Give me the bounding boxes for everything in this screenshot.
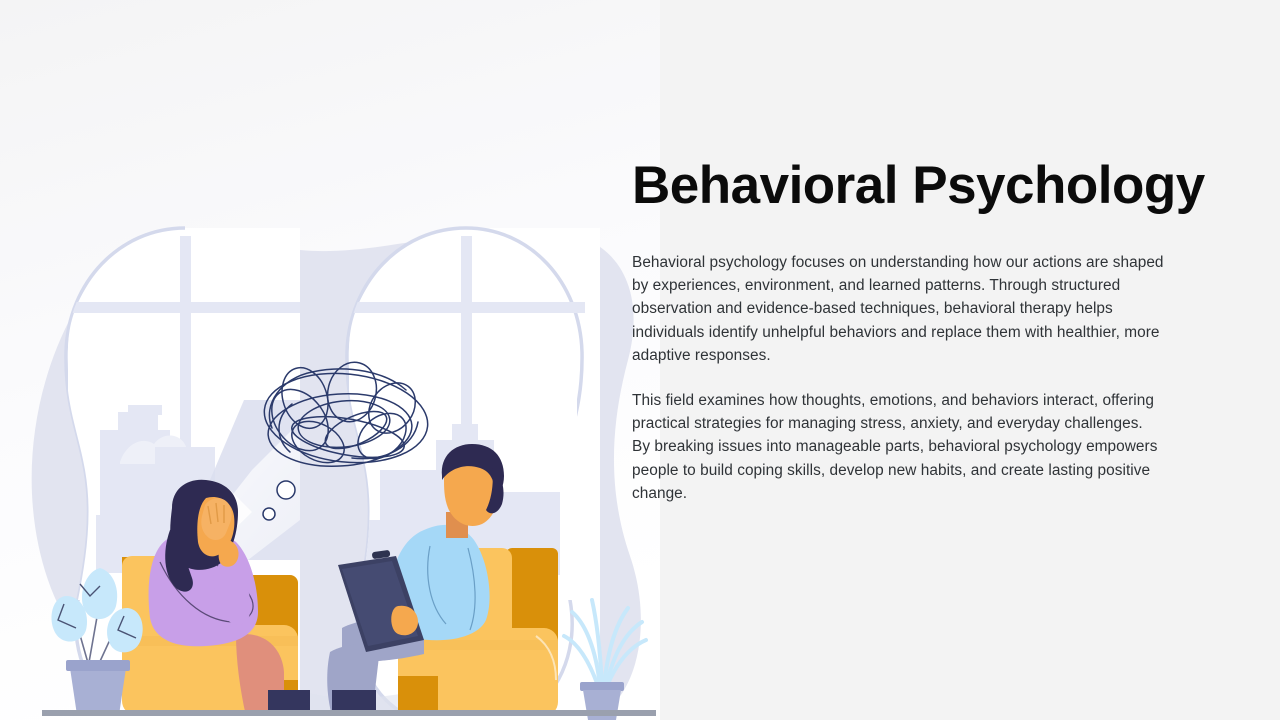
floor-line <box>42 710 656 716</box>
page-title: Behavioral Psychology <box>632 158 1232 214</box>
paragraph-2: This field examines how thoughts, emotio… <box>632 389 1165 505</box>
illustration-panel <box>0 0 660 720</box>
window-mullion-horizontal-left <box>60 302 304 313</box>
content-column: Behavioral Psychology Behavioral psychol… <box>632 0 1212 720</box>
paragraph-1: Behavioral psychology focuses on underst… <box>632 251 1165 367</box>
body-copy: Behavioral psychology focuses on underst… <box>632 251 1165 505</box>
slide-root: Behavioral Psychology Behavioral psychol… <box>0 0 1280 720</box>
window-mullion-horizontal-right <box>341 302 585 313</box>
